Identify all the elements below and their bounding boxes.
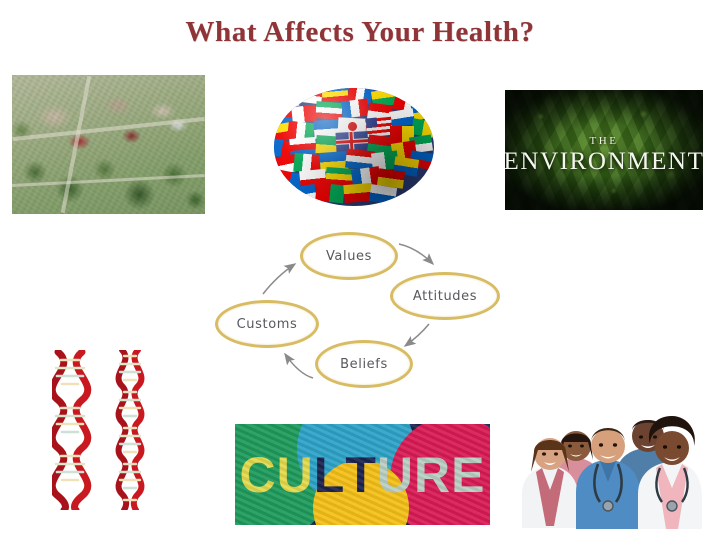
environment-title-label: ENVIRONMENT <box>505 149 703 174</box>
dna-svg <box>52 350 164 510</box>
globe-shading <box>274 88 434 206</box>
photo-texture-overlay <box>12 75 205 214</box>
healthcare-team-photo <box>520 398 704 531</box>
dna-strand-left <box>52 352 88 510</box>
cycle-node-attitudes-label: Attitudes <box>413 289 477 304</box>
culture-letter-l: L <box>314 446 346 504</box>
cycle-node-values-label: Values <box>326 249 372 264</box>
environment-the-label: THE <box>590 136 619 147</box>
culture-letter-t: T <box>345 446 377 504</box>
page-title: What Affects Your Health? <box>0 16 720 49</box>
healthcare-team-svg <box>520 398 704 531</box>
dna-strand-right <box>119 350 142 510</box>
cycle-node-customs-label: Customs <box>237 317 298 332</box>
culture-letter-u1: U <box>277 446 314 504</box>
cycle-node-customs[interactable]: Customs <box>215 300 319 348</box>
arrow-values-to-attitudes <box>399 244 433 264</box>
cycle-node-beliefs-label: Beliefs <box>340 357 388 372</box>
slide-canvas: What Affects Your Health? <box>0 0 720 539</box>
arrow-beliefs-to-customs <box>285 354 313 378</box>
arrow-attitudes-to-beliefs <box>405 324 429 346</box>
culture-letter-r: R <box>414 446 451 504</box>
culture-letter-u2: U <box>377 446 414 504</box>
culture-letter-e: E <box>451 446 485 504</box>
cycle-node-beliefs[interactable]: Beliefs <box>315 340 413 388</box>
dna-helix-illustration <box>52 350 164 510</box>
cycle-node-attitudes[interactable]: Attitudes <box>390 272 500 320</box>
culture-cycle-diagram: Values Attitudes Beliefs Customs <box>205 228 515 388</box>
globe-sphere <box>274 88 434 206</box>
arrow-customs-to-values <box>263 264 295 294</box>
aerial-neighborhood-photo <box>12 75 205 214</box>
culture-word: CULTURE <box>235 424 490 525</box>
environment-caption: THE ENVIRONMENT <box>505 90 703 210</box>
cycle-node-values[interactable]: Values <box>300 232 398 280</box>
culture-graphic: CULTURE <box>235 424 490 525</box>
environment-photo: THE ENVIRONMENT <box>505 90 703 210</box>
world-flags-globe <box>274 88 434 206</box>
culture-letter-c: C <box>240 446 277 504</box>
